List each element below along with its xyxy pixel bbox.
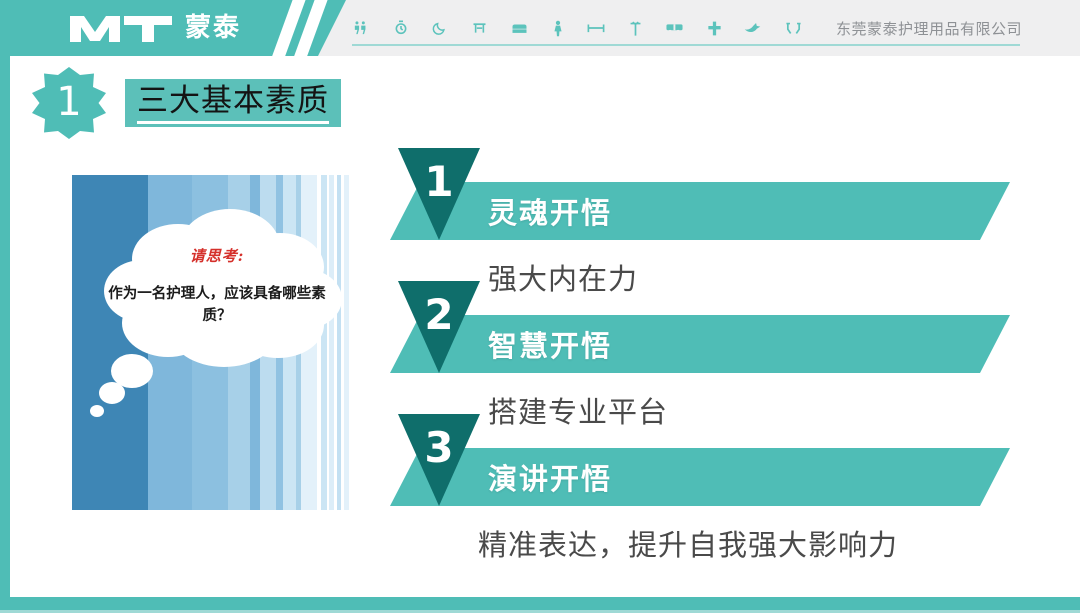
banner-shape [390,448,1010,506]
item-title: 灵魂开悟 [488,182,612,240]
clock-icon [393,20,409,36]
bed-icon [511,21,528,35]
thought-cloud-icon [72,175,362,510]
header-icon-row [352,16,802,40]
banner-shape [390,315,1010,373]
slide-header: 蒙泰 [0,0,1080,56]
item-subtitle-1: 强大内在力 [488,256,638,298]
item-banner-2[interactable]: 2 智慧开悟 [390,315,1010,373]
item-banner-3[interactable]: 3 演讲开悟 [390,448,1010,506]
section-number-badge: 1 [27,66,111,140]
thinking-illustration: 请思考: 作为一名护理人，应该具备哪些素质？ [72,175,362,510]
person-icon [552,20,564,37]
item-number: 2 [398,281,480,373]
question-text: 作为一名护理人，应该具备哪些素质？ [106,283,328,328]
header-icon-underline [352,44,1020,46]
item-number: 3 [398,414,480,506]
nursing-cart-icon [665,21,684,35]
iv-stand-icon [629,20,642,37]
section-title-box: 三大基本素质 [125,79,341,127]
walker-icon [471,20,488,36]
item-title: 演讲开悟 [488,448,612,506]
mt-logo-icon [68,12,176,44]
frame-left-border [0,0,10,613]
section-number: 1 [27,66,111,140]
item-title: 智慧开悟 [488,315,612,373]
page-title: 三大基本素质 [137,82,329,124]
bird-icon [744,21,761,35]
frame-bottom-gap [10,593,1080,597]
company-name: 东莞蒙泰护理用品有限公司 [836,18,1022,39]
brand-logo: 蒙泰 [68,12,241,44]
item-subtitle-2: 搭建专业平台 [488,389,668,431]
question-label: 请思考: [72,245,362,266]
brand-name-cn: 蒙泰 [185,15,241,41]
moon-icon [432,20,447,36]
wheelchair-icon [352,20,369,37]
item-banner-1[interactable]: 1 灵魂开悟 [390,182,1010,240]
banner-shape [390,182,1010,240]
bed-rail-icon [587,22,605,34]
crutches-icon [785,21,802,36]
item-subtitle-3: 精准表达，提升自我强大影响力 [478,522,898,564]
slide: 蒙泰 [0,0,1080,613]
item-number: 1 [398,148,480,240]
cross-icon [708,21,721,36]
